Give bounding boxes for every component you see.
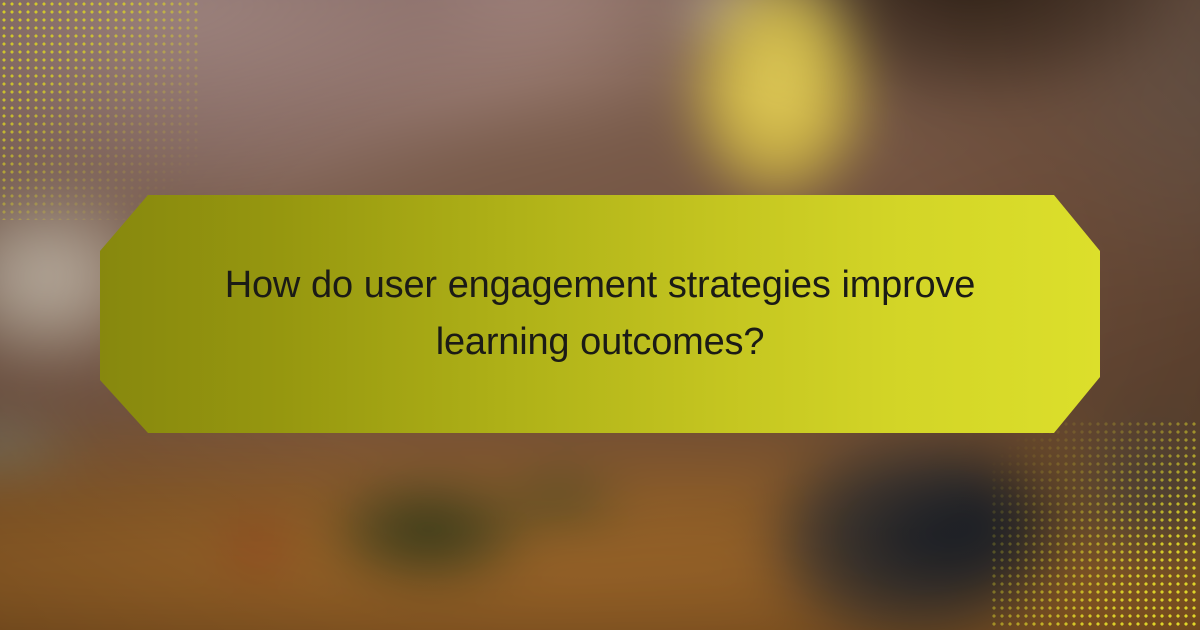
headline-banner: How do user engagement strategies improv… [100,195,1100,433]
headline-banner-inner: How do user engagement strategies improv… [160,257,1040,371]
question-card: How do user engagement strategies improv… [0,0,1200,630]
page-title: How do user engagement strategies improv… [200,257,1000,371]
